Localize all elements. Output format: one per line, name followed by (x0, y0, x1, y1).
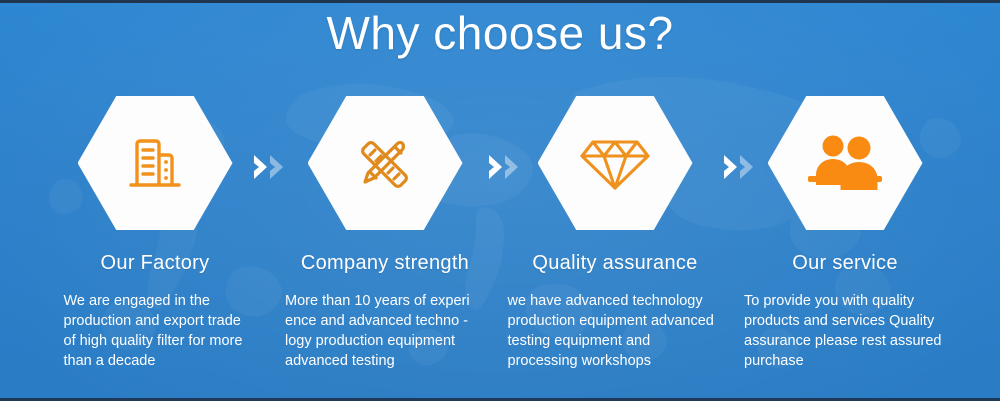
feature-title-1: Our Factory (101, 252, 210, 274)
diamond-icon (579, 132, 651, 194)
feature-description-4: To provide you with quality products and… (744, 291, 946, 371)
page-title: Why choose us? (0, 6, 1000, 60)
pencil-ruler-icon (353, 131, 417, 195)
hexagon-badge-4 (768, 96, 923, 230)
building-icon (124, 133, 186, 193)
feature-description-1: We are engaged in the production and exp… (64, 291, 247, 371)
feature-description-3: we have advanced technology production e… (508, 291, 723, 371)
people-icon (805, 134, 885, 192)
feature-column-company-strength[interactable]: Company strength More than 10 years of e… (270, 96, 500, 371)
hexagon-badge-3 (538, 96, 693, 230)
feature-columns: Our Factory We are engaged in the produc… (0, 96, 1000, 371)
chevron-right-double-icon (487, 152, 527, 182)
chevron-right-double-icon (722, 152, 762, 182)
chevron-right-double-icon (252, 152, 292, 182)
why-choose-us-banner: Why choose us? (0, 0, 1000, 401)
top-edge-strip (0, 0, 1000, 3)
hexagon-badge-2 (308, 96, 463, 230)
feature-description-2: More than 10 years of experi ence and ad… (285, 291, 485, 371)
feature-column-our-service[interactable]: Our service To provide you with quality … (730, 96, 960, 371)
feature-column-quality-assurance[interactable]: Quality assurance we have advanced techn… (500, 96, 730, 371)
hexagon-badge-1 (78, 96, 233, 230)
feature-title-4: Our service (792, 252, 898, 274)
feature-title-2: Company strength (301, 252, 469, 274)
feature-column-our-factory[interactable]: Our Factory We are engaged in the produc… (40, 96, 270, 371)
feature-title-3: Quality assurance (532, 252, 697, 274)
